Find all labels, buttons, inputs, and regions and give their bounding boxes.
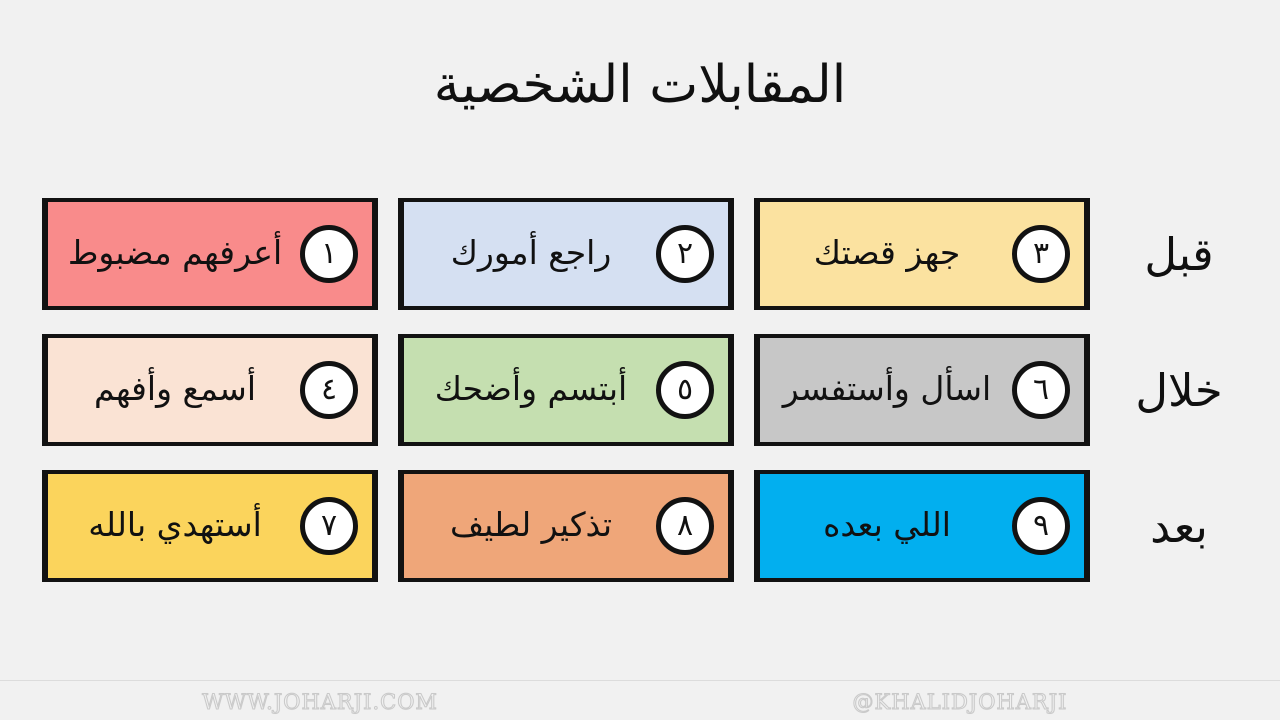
footer-handle: @KHALIDJOHARJI [640, 690, 1280, 714]
card-row-during: ٤ أسمع وأفهم ٥ أبتسم وأضحك ٦ اسأل وأستفس… [42, 334, 1090, 446]
card-5-number-badge: ٥ [656, 361, 714, 419]
page-title: المقابلات الشخصية [0, 56, 1280, 116]
footer-divider [0, 680, 1280, 681]
card-2-number-badge: ٢ [656, 225, 714, 283]
row-labels-column: قبل خلال بعد [1094, 198, 1264, 582]
card-1[interactable]: ١ أعرفهم مضبوط [42, 198, 378, 310]
card-7-label: أستهدي بالله [60, 507, 290, 545]
card-row-before: ١ أعرفهم مضبوط ٢ راجع أمورك ٣ جهز قصتك [42, 198, 1090, 310]
card-8-number-badge: ٨ [656, 497, 714, 555]
card-9[interactable]: ٩ اللي بعده [754, 470, 1090, 582]
card-1-number-badge: ١ [300, 225, 358, 283]
card-3-number-badge: ٣ [1012, 225, 1070, 283]
card-2-label: راجع أمورك [416, 235, 646, 273]
card-6[interactable]: ٦ اسأل وأستفسر [754, 334, 1090, 446]
card-5[interactable]: ٥ أبتسم وأضحك [398, 334, 734, 446]
card-9-number-badge: ٩ [1012, 497, 1070, 555]
card-4-number-badge: ٤ [300, 361, 358, 419]
slide-canvas: المقابلات الشخصية ١ أعرفهم مضبوط ٢ راجع … [0, 0, 1280, 720]
card-8-label: تذكير لطيف [416, 507, 646, 545]
card-3-label: جهز قصتك [772, 235, 1002, 273]
card-7[interactable]: ٧ أستهدي بالله [42, 470, 378, 582]
card-6-number-badge: ٦ [1012, 361, 1070, 419]
card-2[interactable]: ٢ راجع أمورك [398, 198, 734, 310]
card-9-label: اللي بعده [772, 507, 1002, 545]
card-7-number-badge: ٧ [300, 497, 358, 555]
card-8[interactable]: ٨ تذكير لطيف [398, 470, 734, 582]
footer: @KHALIDJOHARJI WWW.JOHARJI.COM [0, 684, 1280, 720]
card-1-label: أعرفهم مضبوط [60, 235, 290, 273]
footer-website: WWW.JOHARJI.COM [0, 690, 640, 714]
row-label-after: بعد [1094, 470, 1264, 582]
row-label-before: قبل [1094, 198, 1264, 310]
card-5-label: أبتسم وأضحك [416, 371, 646, 409]
card-4-label: أسمع وأفهم [60, 371, 290, 409]
card-4[interactable]: ٤ أسمع وأفهم [42, 334, 378, 446]
card-3[interactable]: ٣ جهز قصتك [754, 198, 1090, 310]
row-label-during: خلال [1094, 334, 1264, 446]
cards-grid: ١ أعرفهم مضبوط ٢ راجع أمورك ٣ جهز قصتك ٤… [42, 198, 1090, 582]
card-6-label: اسأل وأستفسر [772, 371, 1002, 409]
card-row-after: ٧ أستهدي بالله ٨ تذكير لطيف ٩ اللي بعده [42, 470, 1090, 582]
